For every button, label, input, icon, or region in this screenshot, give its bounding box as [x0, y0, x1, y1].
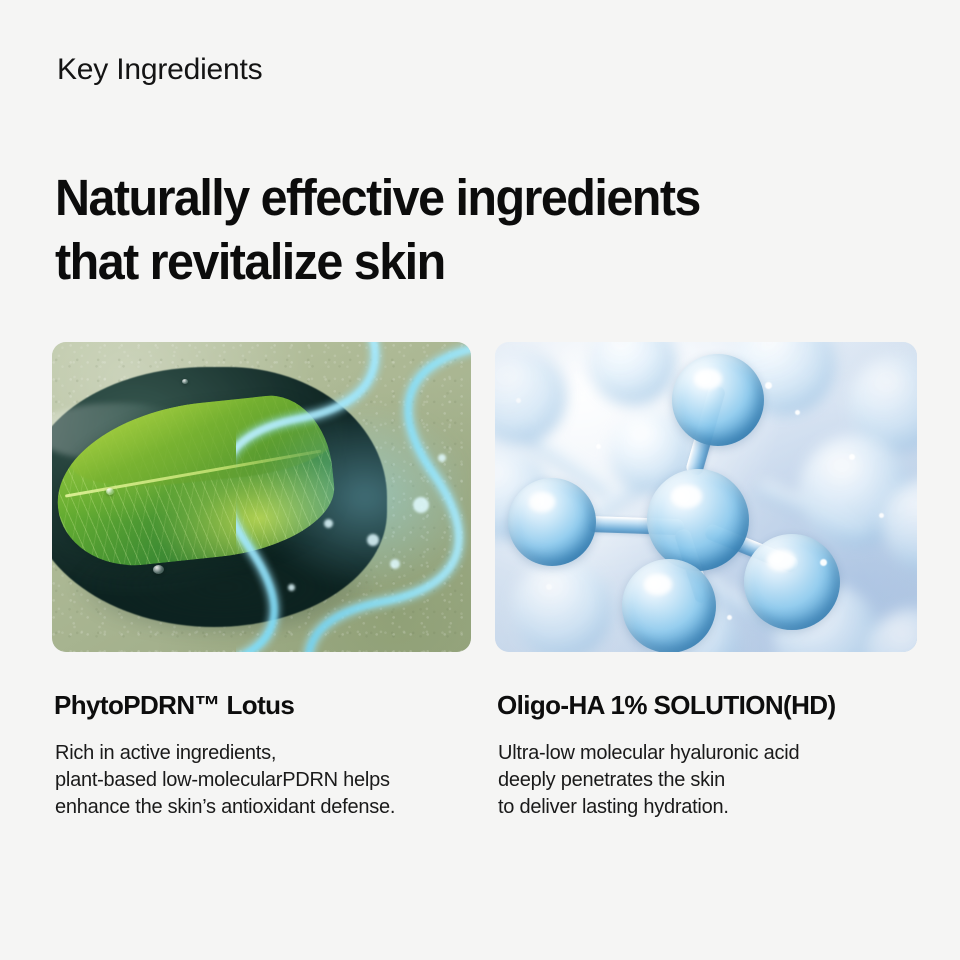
headline-line-1: Naturally effective ingredients [55, 166, 872, 230]
section-eyebrow: Key Ingredients [57, 52, 262, 88]
ingredient-description: Rich in active ingredients, plant-based … [55, 740, 495, 821]
description-line: Ultra-low molecular hyaluronic acid [498, 740, 938, 767]
ingredient-description: Ultra-low molecular hyaluronic acid deep… [498, 740, 938, 821]
light-particle [438, 454, 446, 462]
light-particle [413, 497, 429, 513]
description-line: plant-based low-molecularPDRN helps [55, 767, 495, 794]
key-ingredients-section: Key Ingredients Naturally effective ingr… [0, 0, 960, 960]
water-droplet [153, 565, 164, 574]
light-particle [324, 519, 333, 528]
description-line: Rich in active ingredients, [55, 740, 495, 767]
light-particle [390, 559, 400, 569]
molecule-illustration [495, 342, 917, 652]
description-line: deeply penetrates the skin [498, 767, 938, 794]
ingredient-image-oligo-ha [495, 342, 917, 652]
ingredient-title: Oligo-HA 1% SOLUTION(HD) [497, 690, 836, 721]
ingredient-image-phytopdrn [52, 342, 471, 652]
dna-helix-icon [236, 342, 471, 652]
light-particle [367, 534, 379, 546]
light-particle [288, 584, 295, 591]
ingredient-card-list: PhytoPDRN™ Lotus Rich in active ingredie… [0, 342, 960, 862]
ingredient-card-oligo-ha: Oligo-HA 1% SOLUTION(HD) Ultra-low molec… [495, 342, 917, 652]
molecule-scene-vignette [495, 342, 917, 652]
ingredient-card-phytopdrn: PhytoPDRN™ Lotus Rich in active ingredie… [52, 342, 471, 652]
section-headline: Naturally effective ingredients that rev… [55, 166, 872, 294]
headline-line-2: that revitalize skin [55, 230, 872, 294]
description-line: to deliver lasting hydration. [498, 794, 938, 821]
description-line: enhance the skin’s antioxidant defense. [55, 794, 495, 821]
ingredient-title: PhytoPDRN™ Lotus [54, 690, 294, 721]
leaf-dna-illustration [52, 342, 471, 652]
